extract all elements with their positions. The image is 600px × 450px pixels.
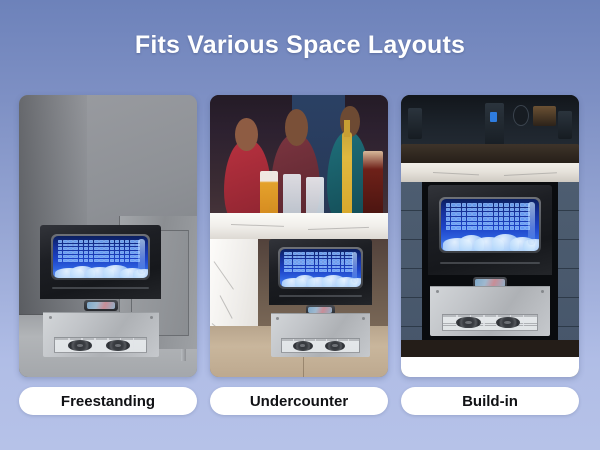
ice-cube-cell [306, 259, 310, 262]
control-panel-display[interactable] [84, 300, 118, 311]
ice-cube-row [58, 251, 140, 254]
ice-cube-cell [284, 256, 288, 259]
vent-divider [133, 338, 135, 352]
ice-cube-cell [345, 252, 349, 255]
ice-cube-cell [478, 222, 483, 225]
ice-cube-cell [288, 266, 292, 269]
ice-cube-cell [332, 266, 336, 269]
cola-glass [363, 151, 383, 216]
fan-hub [465, 321, 472, 324]
dark-floor [401, 340, 579, 357]
front-ventilation-grille [442, 314, 538, 332]
ice-cube-cell [73, 244, 77, 247]
vent-divider [483, 315, 485, 331]
ice-cube-cell [293, 256, 297, 259]
ice-cube-cell [68, 240, 72, 243]
label-pill-freestanding[interactable]: Freestanding [19, 387, 197, 415]
ice-maker-icon [269, 239, 372, 357]
ice-cube-cell [499, 208, 504, 211]
ice-cube-cell [336, 262, 340, 265]
ice-cube-cell [58, 240, 62, 243]
ice-cube-cell [504, 203, 509, 206]
ice-cube-cell [120, 244, 124, 247]
ice-cube-cell [125, 247, 129, 250]
ice-cube-cell [58, 247, 62, 250]
ice-cube-cell [328, 262, 332, 265]
stainless-front-panel [43, 312, 159, 357]
ice-cube-cell [472, 212, 477, 215]
ice-cube-cell [345, 266, 349, 269]
bottom-white-strip [401, 357, 579, 377]
ice-cube-cell [332, 252, 336, 255]
stainless-front-panel [271, 313, 370, 357]
ice-cube-cell [488, 217, 493, 220]
ice-cube-cell [130, 244, 134, 247]
ice-maker-icon [40, 225, 161, 358]
ice-cube-cell [483, 222, 488, 225]
ice-cube-cell [520, 203, 525, 206]
ice-cube-cell [84, 251, 88, 254]
ice-cube-cell [472, 217, 477, 220]
beer-bottle [342, 132, 353, 217]
ice-cube-cell [104, 244, 108, 247]
ice-cube-cell [504, 222, 509, 225]
stainless-front-panel [430, 286, 550, 336]
ice-cube-cell [515, 208, 520, 211]
ice-cube-cell [520, 208, 525, 211]
panel-build-in[interactable] [401, 95, 579, 377]
ice-cube-cell [478, 208, 483, 211]
ice-cube-cell [341, 262, 345, 265]
ice-cube-cell [94, 247, 98, 250]
ice-cube-cell [483, 203, 488, 206]
ice-cube-cell [494, 208, 499, 211]
person-left-head [235, 118, 258, 152]
backbar-wall [401, 95, 579, 166]
ice-cube-cell [84, 244, 88, 247]
ice-cube-cell [504, 208, 509, 211]
ice-cube-cell [451, 208, 456, 211]
panel-undercounter[interactable] [210, 95, 388, 377]
ice-cube-cell [310, 252, 314, 255]
ice-cube-cell [319, 262, 323, 265]
ice-cube-cell [58, 251, 62, 254]
ice-cube-cell [63, 247, 67, 250]
housing-seam [52, 287, 149, 289]
ice-cube-cell [99, 247, 103, 250]
ice-cube-cell [494, 222, 499, 225]
window-glass [53, 236, 148, 278]
ice-cube-cell [79, 244, 83, 247]
ice-cube-row [284, 259, 353, 262]
ice-cube-cell [110, 251, 114, 254]
label-text: Undercounter [250, 393, 348, 410]
bar-equipment [533, 106, 556, 126]
ice-cube-cell [446, 222, 451, 225]
ice-cube-cell [328, 256, 332, 259]
ice-cube-cell [462, 203, 467, 206]
ice-cube-cell [297, 252, 301, 255]
control-screen [87, 302, 115, 309]
ice-cube-row [58, 255, 140, 258]
panel-screw [362, 317, 365, 320]
panel-screw [276, 317, 279, 320]
ice-cube-cell [332, 256, 336, 259]
ice-cube-cell [310, 256, 314, 259]
cabinet-leg [181, 349, 186, 361]
panel-screw [49, 316, 52, 319]
control-screen [308, 307, 332, 313]
ice-cube-row [284, 256, 353, 259]
ice-cube-cell [293, 252, 297, 255]
ice-cube-cell [125, 240, 129, 243]
ice-cube-cell [462, 222, 467, 225]
ice-cube-cell [456, 222, 461, 225]
ice-cube-cell [520, 222, 525, 225]
ice-cube-cell [319, 252, 323, 255]
ice-cube-cell [315, 259, 319, 262]
ice-cube-cell [306, 262, 310, 265]
ice-cube-cell [301, 256, 305, 259]
ice-cube-cell [336, 259, 340, 262]
ice-cube-cell [472, 222, 477, 225]
ice-cube-cell [306, 266, 310, 269]
vent-divider [348, 339, 350, 352]
ice-cube-cell [115, 247, 119, 250]
ice-cube-cell [472, 203, 477, 206]
ice-cube-cell [510, 212, 515, 215]
ice-cube-cell [515, 203, 520, 206]
housing-seam [440, 262, 540, 264]
ice-cube-cell [104, 247, 108, 250]
ice-cube-cell [446, 203, 451, 206]
ice-cube-cell [110, 247, 114, 250]
ice-cube-cell [73, 251, 77, 254]
ice-cube-cell [478, 203, 483, 206]
fan-hub [504, 321, 511, 324]
ice-cube-cell [89, 247, 93, 250]
blue-indicator-light [490, 112, 497, 122]
ice-cube-cell [323, 256, 327, 259]
ice-cube-cell [456, 217, 461, 220]
ice-cube-cell [120, 255, 124, 258]
countertop-veining [401, 163, 579, 183]
ice-cube-cell [73, 247, 77, 250]
ice-cube-cell [306, 252, 310, 255]
ice-cube-cell [89, 244, 93, 247]
ice-cube-row [284, 252, 353, 255]
ice-cube-cell [89, 240, 93, 243]
unit-upper-housing [428, 185, 553, 275]
ice-cube-cell [315, 262, 319, 265]
ice-water-glass [283, 174, 301, 216]
ice-cube-cell [323, 252, 327, 255]
ice-cube-cell [472, 208, 477, 211]
cooling-fan [68, 340, 92, 351]
ice-cube-cell [488, 203, 493, 206]
ice-cube-cell [110, 244, 114, 247]
ice-cube-cell [332, 259, 336, 262]
window-glass [441, 199, 539, 251]
ice-cube-cell [297, 259, 301, 262]
ice-cube-cell [341, 256, 345, 259]
ice-cube-cell [115, 251, 119, 254]
ice-cube-cell [462, 212, 467, 215]
ice-cube-cell [125, 251, 129, 254]
espresso-machine [485, 103, 505, 150]
ice-cube-cell [301, 252, 305, 255]
ice-cube-cell [63, 255, 67, 258]
ice-cube-cell [130, 255, 134, 258]
ice-pile [53, 259, 148, 278]
layout-panels [19, 95, 581, 377]
ice-pile [441, 227, 539, 251]
ice-cube-cell [323, 266, 327, 269]
front-ventilation-grille [281, 338, 360, 353]
ice-cube-cell [499, 222, 504, 225]
ice-cube-cell [467, 222, 472, 225]
ice-cube-cell [456, 212, 461, 215]
label-pill-build-in[interactable]: Build-in [401, 387, 579, 415]
wall-clock [513, 105, 529, 126]
header: Fits Various Space Layouts [0, 0, 600, 90]
ice-cube-cell [94, 244, 98, 247]
ice-cube-cell [345, 256, 349, 259]
cooling-fan [293, 341, 313, 351]
ice-cube-cell [499, 203, 504, 206]
unit-upper-housing [269, 239, 372, 305]
ice-cube-cell [68, 244, 72, 247]
ice-cube-cell [323, 259, 327, 262]
ice-cube-cell [336, 252, 340, 255]
ice-cube-cell [79, 240, 83, 243]
ice-cube-cell [478, 212, 483, 215]
ice-cube-cell [515, 217, 520, 220]
ice-cube-cell [488, 208, 493, 211]
ice-cube-cell [467, 203, 472, 206]
ice-water-glass [306, 177, 324, 216]
ice-cube-row [446, 212, 530, 215]
ice-cube-cell [68, 255, 72, 258]
ice-cube-cell [510, 208, 515, 211]
ice-cube-cell [456, 208, 461, 211]
ice-cube-cell [130, 240, 134, 243]
ice-cube-cell [68, 251, 72, 254]
unit-upper-housing [40, 225, 161, 299]
ice-cube-cell [488, 222, 493, 225]
ice-cube-cell [478, 217, 483, 220]
person-center-head [285, 109, 308, 146]
ice-cube-cell [110, 240, 114, 243]
label-pill-undercounter[interactable]: Undercounter [210, 387, 388, 415]
ice-cube-cell [115, 244, 119, 247]
ice-cube-cell [499, 217, 504, 220]
ice-cube-cell [328, 252, 332, 255]
ice-cube-cell [446, 212, 451, 215]
ice-cube-cell [462, 217, 467, 220]
window-glare [138, 239, 145, 274]
ice-cube-cell [297, 266, 301, 269]
ice-cube-cell [284, 252, 288, 255]
ice-pile [280, 269, 361, 286]
ice-cube-cell [504, 217, 509, 220]
ice-cube-cell [510, 203, 515, 206]
ice-cube-cell [79, 247, 83, 250]
cooling-fan [106, 340, 130, 351]
ice-cube-cell [63, 240, 67, 243]
ice-cube-cell [336, 266, 340, 269]
ice-cube-cell [63, 244, 67, 247]
ice-cube-row [446, 203, 530, 206]
ice-cube-cell [345, 262, 349, 265]
ice-cube-cell [328, 259, 332, 262]
ice-cube-cell [89, 255, 93, 258]
ice-cube-cell [510, 222, 515, 225]
ice-cube-cell [120, 247, 124, 250]
ice-cube-cell [73, 255, 77, 258]
ice-cube-row [446, 208, 530, 211]
ice-cube-cell [467, 217, 472, 220]
ice-cube-cell [84, 247, 88, 250]
cooling-fan [456, 317, 480, 329]
ice-cube-cell [310, 266, 314, 269]
ice-cube-cell [451, 212, 456, 215]
ice-cube-cell [467, 208, 472, 211]
ice-cube-cell [288, 259, 292, 262]
panel-freestanding[interactable] [19, 95, 197, 377]
ice-cube-cell [130, 247, 134, 250]
ice-cube-cell [293, 262, 297, 265]
ice-cube-cell [99, 244, 103, 247]
panel-screw [541, 290, 544, 293]
ice-cube-cell [315, 252, 319, 255]
ice-cube-cell [494, 203, 499, 206]
ice-cube-cell [328, 266, 332, 269]
ice-cube-cell [120, 251, 124, 254]
marble-countertop [210, 213, 388, 238]
ice-cube-row [58, 244, 140, 247]
ice-cube-row [284, 266, 353, 269]
ice-cube-cell [341, 252, 345, 255]
ice-cube-cell [99, 255, 103, 258]
ice-cube-cell [301, 262, 305, 265]
bar-equipment [408, 108, 422, 139]
ice-cube-cell [89, 251, 93, 254]
ice-cube-cell [483, 217, 488, 220]
vent-divider [315, 339, 317, 352]
vent-divider [523, 315, 525, 331]
ice-cube-cell [297, 256, 301, 259]
ice-cube-cell [84, 240, 88, 243]
ice-cube-cell [288, 256, 292, 259]
ice-cube-cell [319, 256, 323, 259]
housing-seam [279, 295, 362, 297]
ice-cube-cell [284, 266, 288, 269]
bottle-neck [344, 120, 349, 137]
ice-cube-cell [288, 262, 292, 265]
ice-cube-cell [104, 255, 108, 258]
ice-cube-cell [73, 240, 77, 243]
ice-cube-row [446, 217, 530, 220]
ice-cube-cell [319, 266, 323, 269]
ice-maker-icon [428, 185, 553, 340]
ice-cube-cell [301, 266, 305, 269]
ice-cube-cell [79, 255, 83, 258]
ice-cube-cell [84, 255, 88, 258]
window-glass [280, 249, 361, 286]
ice-cube-cell [293, 259, 297, 262]
ice-cube-cell [323, 262, 327, 265]
ice-cube-cell [115, 240, 119, 243]
ice-cube-cell [130, 251, 134, 254]
ice-cube-row [284, 262, 353, 265]
panel-screw [150, 316, 153, 319]
ice-cube-cell [58, 255, 62, 258]
ice-cube-cell [58, 244, 62, 247]
ice-cube-cell [310, 262, 314, 265]
ice-storage-window [439, 197, 541, 253]
ice-cube-cell [510, 217, 515, 220]
ice-cube-cell [297, 262, 301, 265]
ice-cube-cell [68, 247, 72, 250]
label-text: Build-in [462, 393, 518, 410]
ice-cube-cell [104, 240, 108, 243]
ice-cube-cell [94, 240, 98, 243]
bar-equipment [558, 111, 572, 139]
ice-cube-cell [120, 240, 124, 243]
ice-cube-cell [504, 212, 509, 215]
ice-cube-cell [515, 222, 520, 225]
ice-cube-cell [315, 256, 319, 259]
ice-cube-cell [446, 208, 451, 211]
ice-storage-window [51, 234, 150, 280]
beer-glass [260, 171, 278, 216]
ice-cube-cell [494, 217, 499, 220]
page-title: Fits Various Space Layouts [135, 31, 465, 60]
ice-cube-cell [451, 217, 456, 220]
ice-cube-cell [467, 212, 472, 215]
ice-cube-cell [341, 266, 345, 269]
ice-cube-cell [341, 259, 345, 262]
ice-cube-row [58, 247, 140, 250]
ice-cube-cell [494, 212, 499, 215]
ice-cube-cell [125, 255, 129, 258]
ice-cube-cell [319, 259, 323, 262]
ice-cube-cell [63, 251, 67, 254]
ice-cube-cell [115, 255, 119, 258]
ice-cube-cell [483, 212, 488, 215]
window-glare [528, 202, 535, 245]
ice-cube-cell [462, 208, 467, 211]
ice-cube-cell [288, 252, 292, 255]
ice-cube-cell [104, 251, 108, 254]
front-ventilation-grille [54, 337, 147, 353]
ice-cube-cell [94, 255, 98, 258]
ice-cube-cell [446, 217, 451, 220]
ice-cube-cell [293, 266, 297, 269]
panel-screw [436, 290, 439, 293]
fan-hub [115, 344, 122, 347]
ice-cube-cell [284, 262, 288, 265]
ice-cube-cell [515, 212, 520, 215]
ice-cube-cell [345, 259, 349, 262]
label-text: Freestanding [61, 393, 155, 410]
ice-cube-cell [310, 259, 314, 262]
window-glare [352, 252, 358, 283]
ice-cube-cell [488, 212, 493, 215]
ice-cube-row [58, 240, 140, 243]
ice-cube-cell [284, 259, 288, 262]
